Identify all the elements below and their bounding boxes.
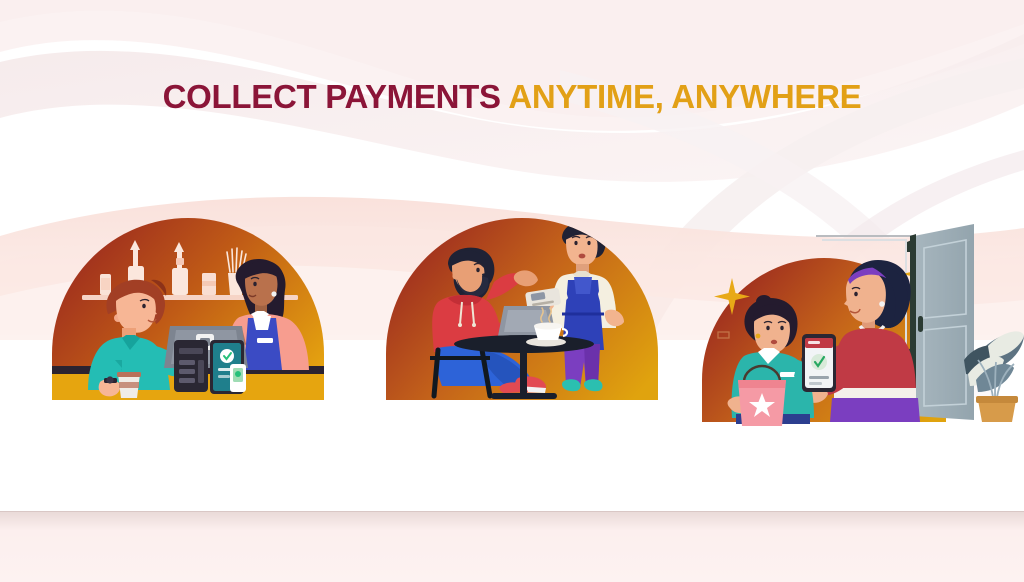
footer-band	[0, 512, 1024, 582]
page-title-accent: ANYTIME, ANYWHERE	[508, 78, 861, 115]
store-checkout-illustration	[52, 218, 324, 400]
page-title: COLLECT PAYMENTS ANYTIME, ANYWHERE	[0, 80, 1024, 113]
cafe-table-illustration	[386, 218, 658, 400]
page-title-primary: COLLECT PAYMENTS	[163, 78, 509, 115]
doorstep-delivery-illustration	[702, 218, 1024, 430]
promo-banner: COLLECT PAYMENTS ANYTIME, ANYWHERE	[0, 0, 1024, 582]
